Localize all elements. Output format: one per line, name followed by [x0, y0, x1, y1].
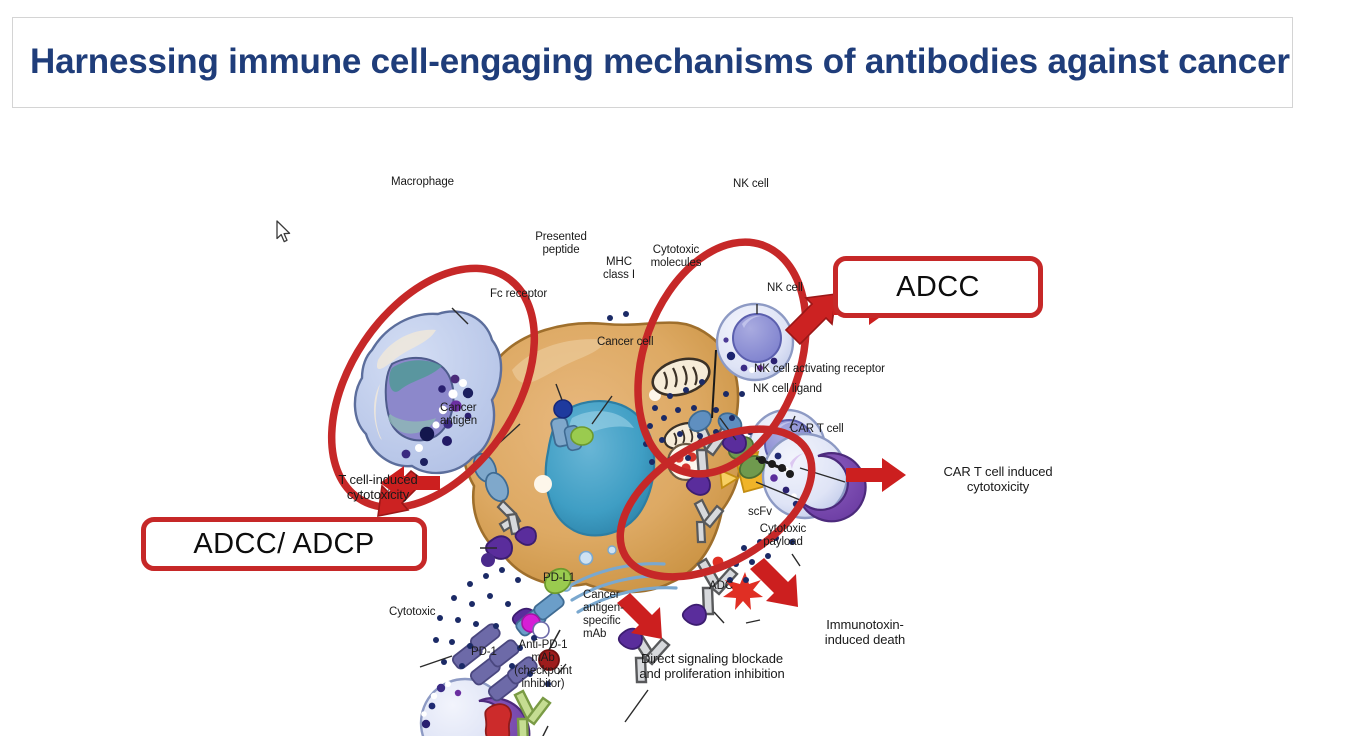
label-scfv: scFv	[748, 506, 772, 519]
label-cancer-antigen-specific-mab: Cancer antigen- specific mAb	[583, 589, 624, 641]
label-nk-cell-top: NK cell	[733, 178, 769, 191]
label-cancer-cell: Cancer cell	[597, 336, 653, 349]
label-cytotoxic-molecules: Cytotoxic molecules	[645, 244, 707, 270]
label-cytotoxic-t-cell: Cytotoxic	[389, 606, 435, 619]
immune-mechanism-diagram: Macrophage Presented peptide MHC class I…	[0, 118, 1353, 736]
label-adc: ADC	[709, 580, 733, 593]
label-macrophage: Macrophage	[391, 176, 454, 189]
label-car-t-cytotoxicity: CAR T cell induced cytotoxicity	[898, 465, 1098, 494]
outcome-arrow-car-t	[846, 458, 906, 492]
slide-canvas: Harnessing immune cell-engaging mechanis…	[0, 0, 1353, 736]
callout-adcc-adcp[interactable]: ADCC/ ADCP	[141, 517, 427, 571]
mouse-cursor	[276, 220, 292, 244]
page-title: Harnessing immune cell-engaging mechanis…	[13, 43, 1290, 82]
callout-adcc-label: ADCC	[896, 271, 980, 304]
label-fc-receptor: Fc receptor	[490, 288, 547, 301]
label-car-t-cell: CAR T cell	[790, 423, 844, 436]
slide-title-box: Harnessing immune cell-engaging mechanis…	[12, 17, 1293, 108]
arrow-to-adcc	[786, 294, 836, 344]
label-nk-cell-lower: NK cell	[767, 282, 803, 295]
label-immunotoxin-induced-death: Immunotoxin- induced death	[790, 618, 940, 647]
annotation-overlay	[0, 118, 1353, 736]
label-presented-peptide: Presented peptide	[530, 231, 592, 257]
label-pd-1: PD-1	[471, 646, 497, 659]
label-mhc-class-i: MHC class I	[596, 256, 642, 282]
callout-adcc[interactable]: ADCC	[833, 256, 1043, 318]
label-nk-cell-ligand: NK cell ligand	[753, 383, 822, 396]
label-direct-signaling-blockade: Direct signaling blockade and proliferat…	[602, 652, 822, 681]
label-pd-l1: PD-L1	[543, 572, 575, 585]
callout-adcc-adcp-label: ADCC/ ADCP	[193, 528, 374, 561]
label-nk-cell-activating-receptor: NK cell activating receptor	[754, 363, 885, 376]
label-cancer-antigen: Cancer antigen	[440, 402, 477, 428]
label-anti-pd-1-mab: Anti-PD-1 mAb (checkpoint inhibitor)	[508, 639, 578, 691]
outcome-arrow-immunotoxin	[750, 558, 798, 607]
label-cytotoxic-payload: Cytotoxic payload	[755, 523, 811, 549]
label-t-cell-cytotoxicity: T cell-induced cytotoxicity	[303, 473, 453, 502]
